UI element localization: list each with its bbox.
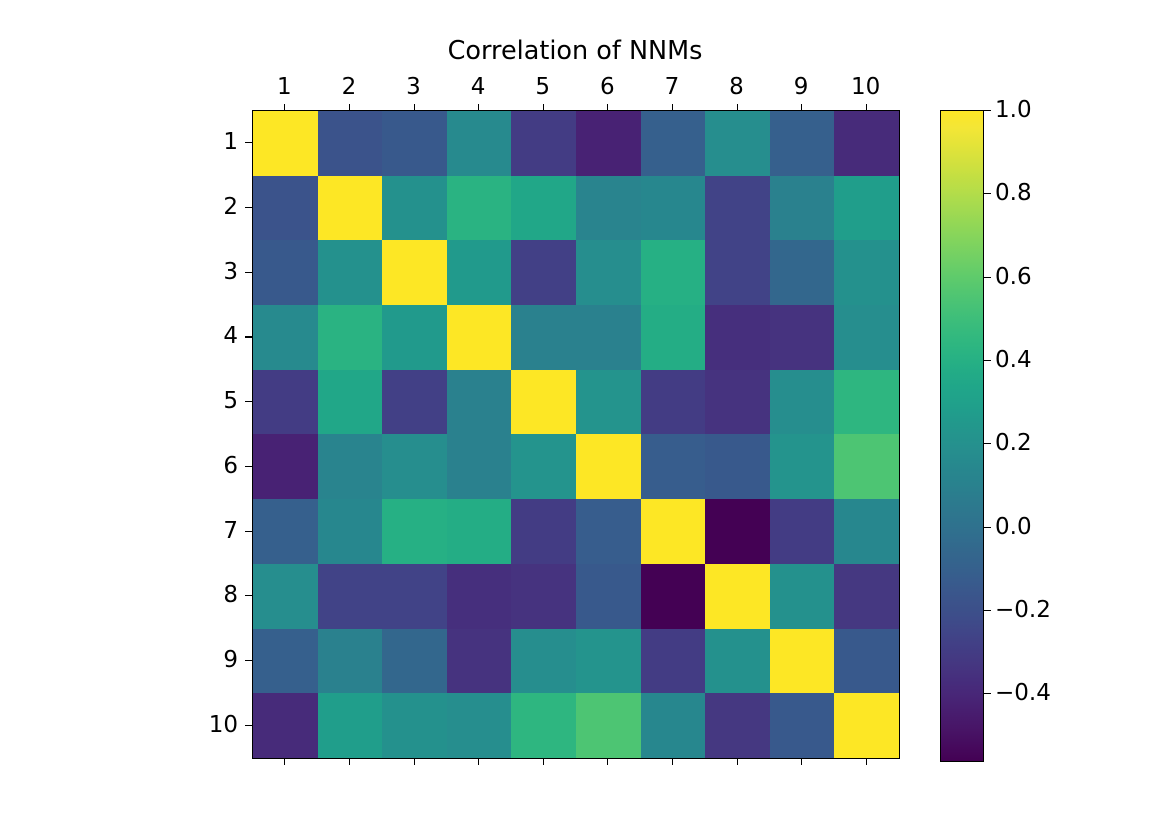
x-tick-label-9: 9 [769, 74, 834, 100]
heatmap-cell [253, 434, 318, 499]
heatmap-cell [705, 499, 770, 564]
heatmap-cell [705, 240, 770, 305]
heatmap-cell [447, 693, 512, 758]
colorbar-gradient [941, 111, 983, 761]
heatmap-cell [834, 111, 899, 176]
y-tick-label-6: 6 [180, 453, 238, 479]
heatmap-cell [770, 564, 835, 629]
x-tick-mark [284, 104, 285, 111]
heatmap-cell [511, 370, 576, 435]
heatmap-cell [511, 564, 576, 629]
heatmap-cell [705, 564, 770, 629]
y-tick-mark [245, 660, 252, 661]
heatmap-cell [318, 629, 383, 694]
heatmap-cell [576, 176, 641, 241]
y-tick-label-1: 1 [180, 129, 238, 155]
heatmap-cell [834, 499, 899, 564]
heatmap-cell [318, 305, 383, 370]
heatmap-cell [834, 434, 899, 499]
x-tick-label-6: 6 [575, 74, 640, 100]
heatmap-cell [576, 434, 641, 499]
heatmap-cell [253, 499, 318, 564]
heatmap-cell [318, 434, 383, 499]
heatmap-cell [382, 499, 447, 564]
y-tick-mark [245, 142, 252, 143]
colorbar-tick-label: 0.2 [995, 430, 1032, 456]
x-tick-mark-bottom [543, 758, 544, 765]
heatmap-cell [770, 240, 835, 305]
colorbar-tick-mark [984, 527, 991, 528]
x-tick-label-3: 3 [381, 74, 446, 100]
x-tick-mark-bottom [414, 758, 415, 765]
heatmap-cell [834, 629, 899, 694]
heatmap-cell [382, 434, 447, 499]
heatmap-cell [641, 434, 706, 499]
x-tick-mark [737, 104, 738, 111]
x-tick-mark [349, 104, 350, 111]
colorbar-tick-label: 0.8 [995, 180, 1032, 206]
heatmap-cell [770, 305, 835, 370]
heatmap-cell [318, 240, 383, 305]
x-tick-mark [801, 104, 802, 111]
heatmap-cell [641, 693, 706, 758]
colorbar-tick-mark [984, 110, 991, 111]
heatmap-cell [447, 370, 512, 435]
heatmap-cell [641, 564, 706, 629]
heatmap-cell [576, 499, 641, 564]
heatmap-cell [770, 111, 835, 176]
heatmap-cell [253, 564, 318, 629]
heatmap-cell [641, 240, 706, 305]
heatmap-cell [770, 499, 835, 564]
x-tick-label-1: 1 [252, 74, 317, 100]
heatmap-cell [447, 240, 512, 305]
x-tick-mark-bottom [349, 758, 350, 765]
heatmap-cell [641, 370, 706, 435]
chart-title: Correlation of NNMs [252, 36, 898, 66]
heatmap-cell [705, 111, 770, 176]
heatmap-cell [447, 499, 512, 564]
heatmap-cell [576, 564, 641, 629]
colorbar-tick-mark [984, 610, 991, 611]
heatmap-cell [253, 305, 318, 370]
heatmap-cell [511, 629, 576, 694]
heatmap-cell [253, 629, 318, 694]
colorbar-tick-label: −0.2 [995, 597, 1051, 623]
x-tick-label-7: 7 [640, 74, 705, 100]
colorbar-tick-label: −0.4 [995, 680, 1051, 706]
x-tick-label-10: 10 [833, 74, 898, 100]
heatmap-cell [705, 305, 770, 370]
heatmap-cell [511, 434, 576, 499]
colorbar-tick-mark [984, 360, 991, 361]
heatmap-cell [382, 176, 447, 241]
heatmap-cell [834, 693, 899, 758]
heatmap-cell [705, 693, 770, 758]
x-tick-mark-bottom [866, 758, 867, 765]
x-tick-mark [478, 104, 479, 111]
heatmap-cell [770, 370, 835, 435]
y-tick-label-10: 10 [180, 712, 238, 738]
y-tick-label-4: 4 [180, 323, 238, 349]
heatmap-cell [834, 370, 899, 435]
heatmap-cell [447, 176, 512, 241]
y-tick-label-8: 8 [180, 582, 238, 608]
heatmap-cell [382, 629, 447, 694]
heatmap-cell [641, 499, 706, 564]
heatmap-cell [382, 111, 447, 176]
heatmap-cell [382, 564, 447, 629]
y-tick-mark [245, 336, 252, 337]
heatmap-cell [705, 176, 770, 241]
heatmap-cell [511, 305, 576, 370]
y-tick-mark [245, 725, 252, 726]
y-tick-label-9: 9 [180, 647, 238, 673]
heatmap-cell [576, 693, 641, 758]
colorbar-tick-mark [984, 193, 991, 194]
colorbar-tick-mark [984, 443, 991, 444]
x-tick-mark [866, 104, 867, 111]
heatmap-cell [318, 370, 383, 435]
heatmap-cell [641, 176, 706, 241]
heatmap-cell [834, 176, 899, 241]
heatmap-cell [705, 434, 770, 499]
colorbar-tick-label: 0.6 [995, 264, 1032, 290]
heatmap-cell [641, 629, 706, 694]
heatmap-cell [576, 111, 641, 176]
y-tick-label-7: 7 [180, 518, 238, 544]
colorbar-tick-mark [984, 693, 991, 694]
heatmap-grid [253, 111, 899, 758]
x-tick-mark-bottom [478, 758, 479, 765]
heatmap-cell [318, 111, 383, 176]
y-tick-mark [245, 531, 252, 532]
heatmap-cell [511, 693, 576, 758]
x-tick-mark-bottom [607, 758, 608, 765]
y-tick-label-3: 3 [180, 259, 238, 285]
heatmap-cell [511, 499, 576, 564]
heatmap-cell [511, 240, 576, 305]
heatmap-cell [253, 370, 318, 435]
heatmap-cell [447, 629, 512, 694]
x-tick-mark [543, 104, 544, 111]
x-tick-mark-bottom [737, 758, 738, 765]
y-tick-mark [245, 401, 252, 402]
y-tick-label-5: 5 [180, 388, 238, 414]
heatmap-cell [382, 693, 447, 758]
heatmap-cell [705, 370, 770, 435]
heatmap-cell [253, 111, 318, 176]
x-tick-mark-bottom [672, 758, 673, 765]
x-tick-mark [607, 104, 608, 111]
colorbar-tick-label: 0.0 [995, 514, 1032, 540]
heatmap-axes[interactable] [252, 110, 900, 759]
y-tick-mark [245, 595, 252, 596]
x-tick-mark [414, 104, 415, 111]
heatmap-cell [318, 176, 383, 241]
heatmap-cell [576, 370, 641, 435]
figure-canvas: Correlation of NNMs 12345678910 12345678… [0, 0, 1166, 832]
heatmap-cell [770, 693, 835, 758]
heatmap-cell [770, 176, 835, 241]
heatmap-cell [511, 176, 576, 241]
y-tick-label-2: 2 [180, 194, 238, 220]
y-tick-mark [245, 466, 252, 467]
heatmap-cell [447, 111, 512, 176]
heatmap-cell [834, 305, 899, 370]
heatmap-cell [382, 370, 447, 435]
heatmap-cell [834, 564, 899, 629]
heatmap-cell [382, 240, 447, 305]
heatmap-cell [576, 629, 641, 694]
heatmap-cell [253, 693, 318, 758]
heatmap-cell [770, 434, 835, 499]
colorbar-tick-mark [984, 277, 991, 278]
heatmap-cell [576, 240, 641, 305]
heatmap-cell [447, 434, 512, 499]
x-tick-label-2: 2 [317, 74, 382, 100]
heatmap-cell [318, 693, 383, 758]
heatmap-cell [705, 629, 770, 694]
x-tick-label-5: 5 [510, 74, 575, 100]
heatmap-cell [253, 176, 318, 241]
colorbar-tick-label: 1.0 [995, 97, 1032, 123]
heatmap-cell [770, 629, 835, 694]
heatmap-cell [641, 305, 706, 370]
heatmap-cell [641, 111, 706, 176]
y-tick-mark [245, 207, 252, 208]
heatmap-cell [382, 305, 447, 370]
heatmap-cell [447, 564, 512, 629]
heatmap-cell [318, 564, 383, 629]
colorbar-tick-label: 0.4 [995, 347, 1032, 373]
heatmap-cell [318, 499, 383, 564]
x-tick-mark [672, 104, 673, 111]
heatmap-cell [576, 305, 641, 370]
colorbar-axes[interactable] [940, 110, 984, 762]
heatmap-cell [834, 240, 899, 305]
x-tick-label-4: 4 [446, 74, 511, 100]
x-tick-label-8: 8 [704, 74, 769, 100]
heatmap-cell [253, 240, 318, 305]
x-tick-mark-bottom [284, 758, 285, 765]
heatmap-cell [447, 305, 512, 370]
y-tick-mark [245, 272, 252, 273]
heatmap-cell [511, 111, 576, 176]
x-tick-mark-bottom [801, 758, 802, 765]
